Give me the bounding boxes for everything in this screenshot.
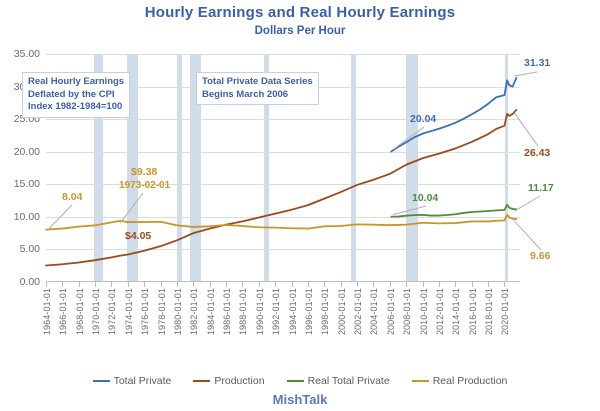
- x-axis-tick-label: 1992-01-01: [271, 288, 281, 335]
- callout-series-line1: Total Private Data Series: [202, 76, 313, 89]
- x-axis-tick: [406, 282, 407, 287]
- x-axis-tick: [62, 282, 63, 287]
- x-axis-tick: [95, 282, 96, 287]
- legend-label: Production: [214, 375, 264, 387]
- callout-cpi-line2: Deflated by the CPI: [28, 89, 124, 102]
- callout-cpi-line3: Index 1982-1984=100: [28, 101, 124, 114]
- label-production-1973: $4.05: [125, 230, 151, 242]
- x-axis-tick: [472, 282, 473, 287]
- series-line-real-total-private: [391, 205, 516, 217]
- label-real-total-private-end: 11.17: [528, 182, 554, 194]
- x-axis-tick: [439, 282, 440, 287]
- series-line-real-production: [46, 215, 516, 230]
- x-axis-tick-label: 2020-01-01: [500, 288, 510, 335]
- series-line-production: [46, 110, 516, 266]
- legend-label: Real Production: [433, 375, 508, 387]
- x-axis-tick: [455, 282, 456, 287]
- x-axis-tick-label: 1984-01-01: [206, 288, 216, 335]
- x-axis-tick: [308, 282, 309, 287]
- label-real-production-peak-date: 1973-02-01: [119, 180, 170, 191]
- x-axis-tick-label: 2018-01-01: [484, 288, 494, 335]
- x-axis-tick: [128, 282, 129, 287]
- callout-series-line2: Begins March 2006: [202, 89, 313, 102]
- legend-item-real-total-private[interactable]: Real Total Private: [287, 375, 390, 387]
- x-axis-tick-label: 1980-01-01: [173, 288, 183, 335]
- callout-cpi-line1: Real Hourly Earnings: [28, 76, 124, 89]
- y-axis-tick-label: 35.00: [14, 48, 40, 60]
- x-axis-tick-label: 2014-01-01: [451, 288, 461, 335]
- x-axis-tick: [488, 282, 489, 287]
- label-real-production-end: 9.66: [530, 250, 550, 262]
- x-axis-tick: [46, 282, 47, 287]
- x-axis-tick-label: 2012-01-01: [435, 288, 445, 335]
- x-axis-tick-label: 1964-01-01: [42, 288, 52, 335]
- x-axis-tick: [242, 282, 243, 287]
- y-axis-tick-label: 15.00: [14, 178, 40, 190]
- x-axis-tick-label: 2016-01-01: [468, 288, 478, 335]
- x-axis-tick-label: 1970-01-01: [91, 288, 101, 335]
- y-axis-tick-label: 20.00: [14, 146, 40, 158]
- x-axis-tick: [259, 282, 260, 287]
- x-axis-tick: [292, 282, 293, 287]
- x-axis-tick: [357, 282, 358, 287]
- y-axis-tick-label: 0.00: [20, 276, 40, 288]
- x-axis-tick-label: 1968-01-01: [75, 288, 85, 335]
- label-total-private-end: 31.31: [524, 57, 550, 69]
- x-axis-tick-label: 1966-01-01: [58, 288, 68, 335]
- x-axis-tick-label: 1986-01-01: [222, 288, 232, 335]
- x-axis-tick-label: 1976-01-01: [140, 288, 150, 335]
- y-axis-tick-label: 5.00: [20, 243, 40, 255]
- label-production-end: 26.43: [524, 147, 550, 159]
- y-axis-tick-label: 10.00: [14, 211, 40, 223]
- x-axis-tick: [79, 282, 80, 287]
- x-axis-tick-label: 2010-01-01: [419, 288, 429, 335]
- legend-label: Total Private: [114, 375, 172, 387]
- callout-real-hourly-earnings: Real Hourly Earnings Deflated by the CPI…: [22, 72, 130, 118]
- x-axis-tick-label: 1994-01-01: [288, 288, 298, 335]
- x-axis-tick: [193, 282, 194, 287]
- x-axis-tick-label: 1974-01-01: [124, 288, 134, 335]
- x-axis-tick: [373, 282, 374, 287]
- x-axis-tick: [210, 282, 211, 287]
- legend-swatch-icon: [193, 380, 210, 383]
- x-axis-tick-label: 1996-01-01: [304, 288, 314, 335]
- x-axis-tick: [324, 282, 325, 287]
- x-axis-tick-label: 1972-01-01: [107, 288, 117, 335]
- legend-swatch-icon: [93, 380, 110, 383]
- x-axis-tick-label: 2004-01-01: [369, 288, 379, 335]
- x-axis-tick: [423, 282, 424, 287]
- callout-total-private-start: Total Private Data Series Begins March 2…: [196, 72, 319, 105]
- x-axis-tick: [111, 282, 112, 287]
- chart-legend: Total PrivateProductionReal Total Privat…: [0, 375, 600, 387]
- x-axis-tick-label: 2000-01-01: [337, 288, 347, 335]
- label-total-private-start: 20.04: [410, 113, 436, 125]
- x-axis-tick-label: 1990-01-01: [255, 288, 265, 335]
- legend-item-real-production[interactable]: Real Production: [412, 375, 508, 387]
- x-axis-tick: [177, 282, 178, 287]
- legend-item-total-private[interactable]: Total Private: [93, 375, 172, 387]
- legend-item-production[interactable]: Production: [193, 375, 264, 387]
- x-axis-labels: 1964-01-011966-01-011968-01-011970-01-01…: [46, 288, 520, 354]
- chart-container: Hourly Earnings and Real Hourly Earnings…: [0, 0, 600, 411]
- x-axis-tick: [341, 282, 342, 287]
- x-axis-tick-label: 2006-01-01: [386, 288, 396, 335]
- label-real-total-private-start: 10.04: [412, 192, 438, 204]
- x-axis-tick-label: 2002-01-01: [353, 288, 363, 335]
- x-axis-tick-label: 2008-01-01: [402, 288, 412, 335]
- x-axis-tick-label: 1982-01-01: [189, 288, 199, 335]
- x-axis-tick: [275, 282, 276, 287]
- x-axis-tick-label: 1998-01-01: [320, 288, 330, 335]
- legend-swatch-icon: [287, 380, 304, 383]
- chart-title: Hourly Earnings and Real Hourly Earnings: [0, 4, 600, 21]
- x-axis-tick: [504, 282, 505, 287]
- x-axis-tick: [390, 282, 391, 287]
- x-axis-tick: [161, 282, 162, 287]
- x-axis-tick: [144, 282, 145, 287]
- x-axis-tick-label: 1978-01-01: [157, 288, 167, 335]
- label-real-production-peak: $9.38: [131, 166, 157, 178]
- label-real-production-start: 8.04: [62, 191, 82, 203]
- legend-label: Real Total Private: [308, 375, 390, 387]
- brand-watermark: MishTalk: [0, 392, 600, 407]
- x-axis-tick: [226, 282, 227, 287]
- legend-swatch-icon: [412, 380, 429, 383]
- chart-subtitle: Dollars Per Hour: [0, 25, 600, 37]
- x-axis-tick-label: 1988-01-01: [238, 288, 248, 335]
